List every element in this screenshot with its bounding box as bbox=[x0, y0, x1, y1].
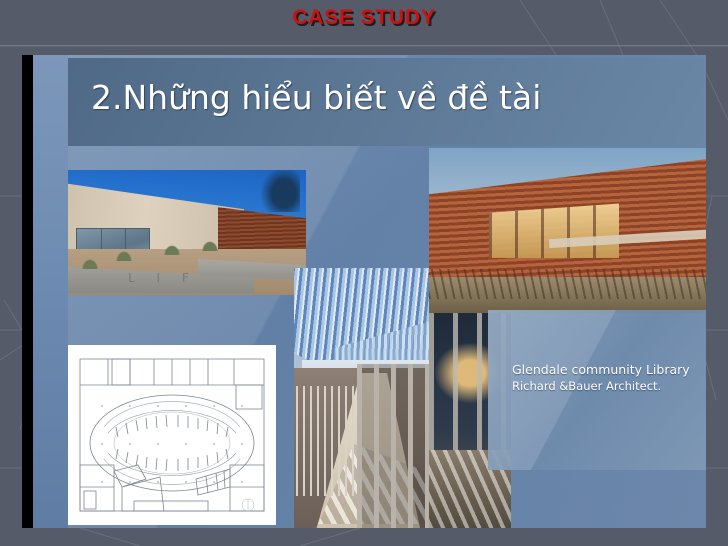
banner-divider bbox=[0, 45, 728, 46]
railing bbox=[296, 386, 358, 496]
photo-floor-plan bbox=[68, 345, 276, 525]
grass-planting bbox=[429, 269, 706, 299]
caption-panel: Glendale community Library Richard &Baue… bbox=[488, 310, 706, 470]
presentation-slide: 2.Những hiểu biết về đề tài L I F bbox=[22, 55, 706, 528]
slide-title-box: 2.Những hiểu biết về đề tài bbox=[68, 58, 706, 146]
shrub bbox=[164, 245, 180, 255]
slide-viewer: CASE STUDY 2.Những hiểu biết về đề tài L… bbox=[0, 0, 728, 546]
floor-plan-drawing bbox=[68, 345, 276, 525]
column-row bbox=[357, 364, 429, 528]
banner: CASE STUDY bbox=[0, 0, 728, 46]
photo-dusk-facade bbox=[429, 148, 706, 313]
wall-lettering: L I F bbox=[128, 271, 198, 285]
tree-silhouette bbox=[260, 170, 300, 212]
shrub bbox=[116, 251, 132, 261]
photo-exterior-building: L I F bbox=[68, 170, 306, 295]
slide-accent-bar bbox=[22, 55, 33, 528]
shrub bbox=[82, 259, 98, 269]
slide-left-panel bbox=[33, 55, 68, 528]
page-title: CASE STUDY bbox=[0, 6, 728, 30]
caption-project-name: Glendale community Library bbox=[512, 362, 690, 377]
photo-canopy-walkway bbox=[294, 268, 429, 528]
caption-architect-name: Richard &Bauer Architect. bbox=[512, 379, 661, 393]
shrub bbox=[202, 241, 218, 251]
slide-title: 2.Những hiểu biết về đề tài bbox=[91, 78, 541, 117]
